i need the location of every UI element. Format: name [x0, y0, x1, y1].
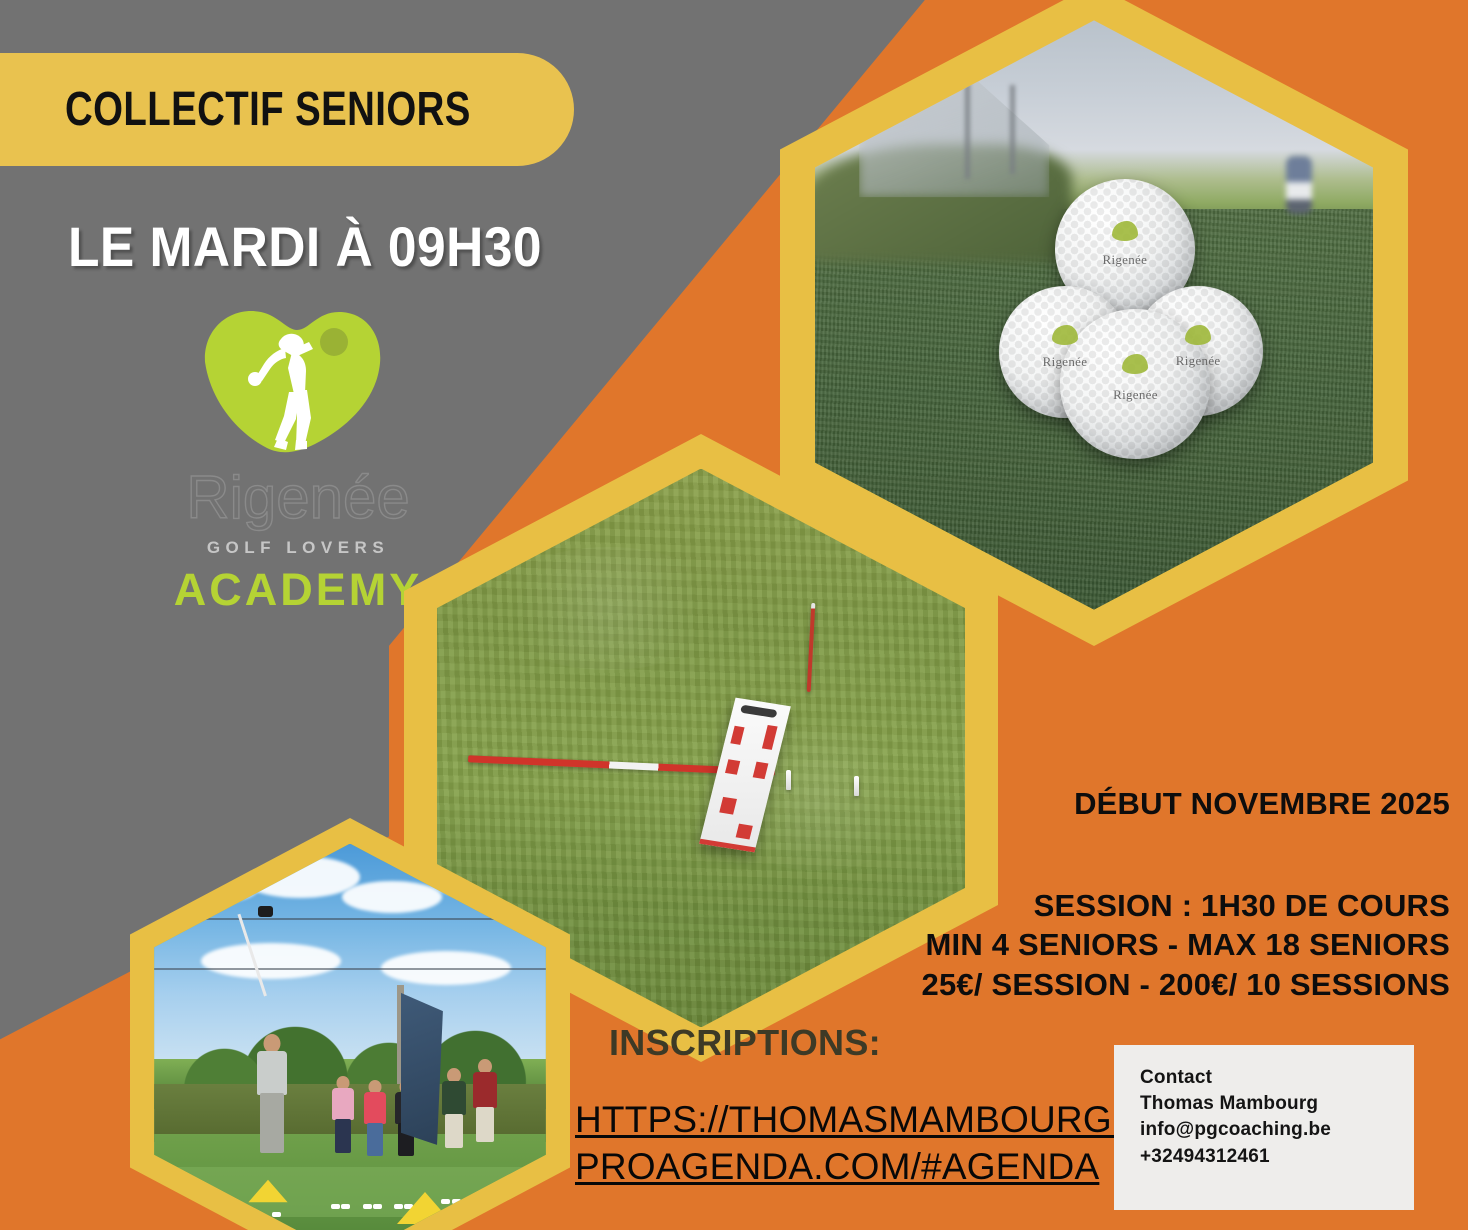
group-lesson-photo — [154, 844, 546, 1230]
academy-logo: Rigenée GOLF LOVERS ACADEMY — [148, 300, 448, 610]
start-date-text: DÉBUT NOVEMBRE 2025 — [680, 786, 1450, 822]
info-spacer — [680, 822, 1450, 886]
registration-url-line2[interactable]: PROAGENDA.COM/#AGENDA — [575, 1146, 1099, 1187]
contact-email[interactable]: info@pgcoaching.be — [1140, 1117, 1414, 1143]
photo-hexagon-group-lesson-inner — [154, 844, 546, 1230]
photo-hexagon-golf-balls-inner: Rigenée Rigenée Rigenée Rigenée — [815, 20, 1374, 609]
schedule-subtitle: LE MARDI À 09H30 — [68, 214, 542, 279]
contact-phone[interactable]: +32494312461 — [1140, 1144, 1414, 1170]
logo-tagline-text: GOLF LOVERS — [148, 538, 448, 558]
contact-name: Thomas Mambourg — [1140, 1091, 1414, 1117]
contact-heading: Contact — [1140, 1065, 1414, 1091]
golf-balls-photo: Rigenée Rigenée Rigenée Rigenée — [815, 20, 1374, 609]
session-duration-text: SESSION : 1H30 DE COURS — [680, 886, 1450, 925]
course-info-block: DÉBUT NOVEMBRE 2025 SESSION : 1H30 DE CO… — [680, 786, 1450, 1004]
page-title: COLLECTIF SENIORS — [65, 86, 471, 134]
registration-url-line1[interactable]: HTTPS://THOMASMAMBOURG. — [575, 1099, 1122, 1140]
contact-card: Contact Thomas Mambourg info@pgcoaching.… — [1114, 1045, 1414, 1210]
logo-brand-text: Rigenée — [148, 468, 448, 528]
registration-label: INSCRIPTIONS: — [609, 1022, 881, 1064]
logo-academy-text: ACADEMY — [148, 564, 448, 616]
golf-swing-heart-icon — [193, 300, 388, 460]
title-banner: COLLECTIF SENIORS — [0, 53, 574, 166]
registration-url[interactable]: HTTPS://THOMASMAMBOURG. PROAGENDA.COM/#A… — [575, 1096, 1122, 1191]
poster-canvas: COLLECTIF SENIORS LE MARDI À 09H30 — [0, 0, 1468, 1230]
capacity-text: MIN 4 SENIORS - MAX 18 SENIORS — [680, 925, 1450, 964]
pricing-text: 25€/ SESSION - 200€/ 10 SESSIONS — [680, 965, 1450, 1004]
